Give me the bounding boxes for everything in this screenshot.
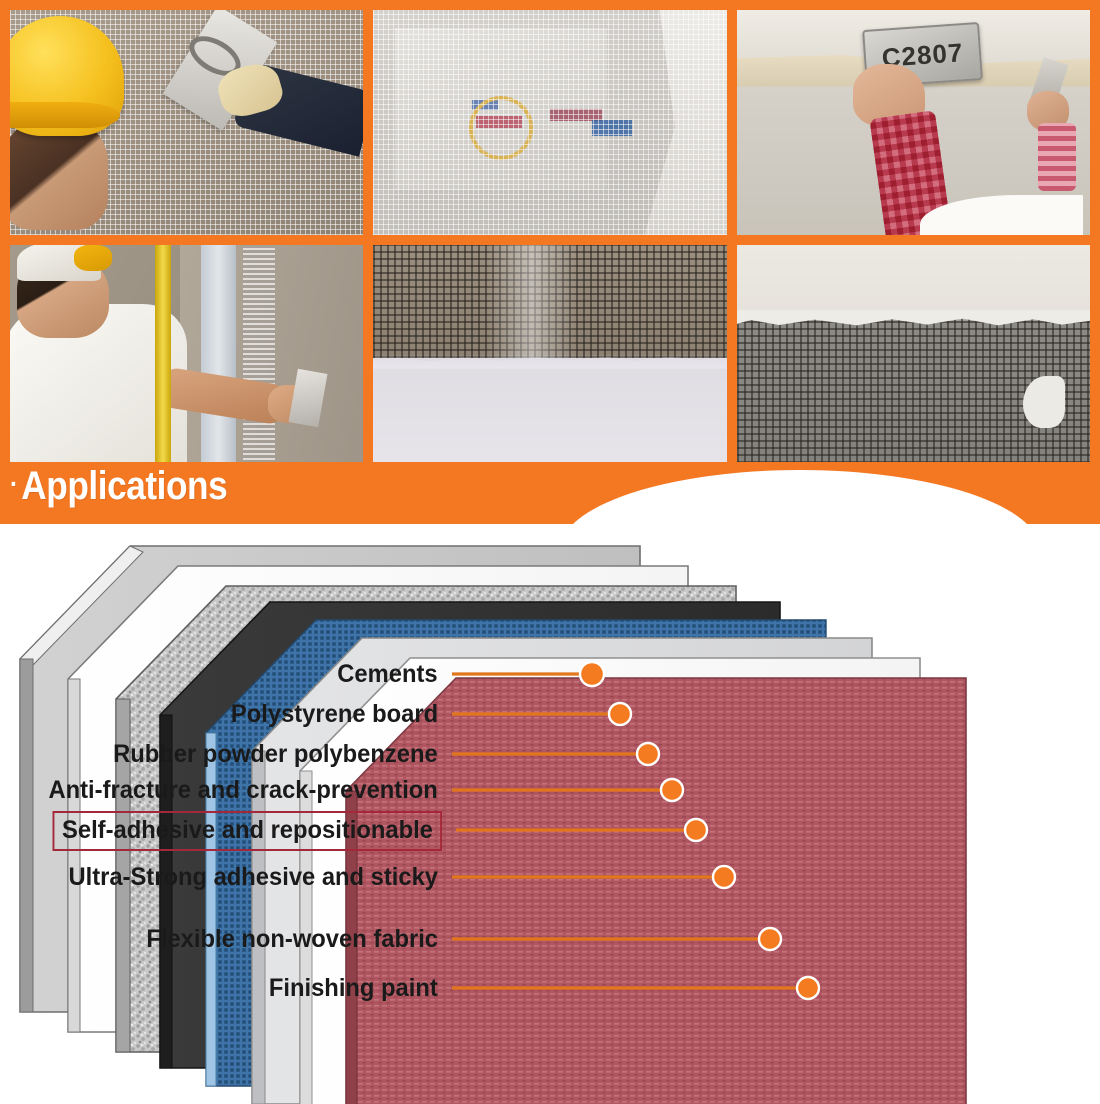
- photo4-yellow-pipe: [155, 245, 171, 470]
- layer-label-rubber-powder-polybenzene: Rubber powder polybenzene: [113, 740, 438, 769]
- layer-label-finishing-paint: Finishing paint: [269, 974, 438, 1003]
- photo4-yellow-hat-edge: [74, 245, 112, 271]
- layer-label-ultra-strong-adhesive: Ultra-Strong adhesive and sticky: [68, 863, 438, 892]
- photo3-second-sleeve: [1038, 123, 1076, 191]
- layer-label-self-adhesive-repositionable: Self-adhesive and repositionable: [52, 811, 442, 851]
- photo-wall-seam: [10, 245, 363, 470]
- photo-mesh-plaster-2: [737, 245, 1090, 470]
- photo5-highlight-sheen: [486, 245, 578, 358]
- applications-photo-gallery: C2807: [0, 0, 1100, 470]
- photo1-hard-hat-brim: [10, 102, 120, 128]
- photo-mesh-plaster-1: [373, 245, 726, 470]
- photo-row-top: C2807: [10, 10, 1090, 235]
- layer-8-finishing-paint: [346, 678, 966, 1104]
- photo4-mesh-tape: [243, 245, 275, 470]
- photo6-plaster-blob: [1023, 376, 1065, 428]
- photo2-mesh-texture: [373, 10, 726, 235]
- photo4-wall-seam: [201, 245, 236, 470]
- layer-label-cements: Cements: [338, 660, 438, 689]
- photo-c2807-plate: C2807: [737, 10, 1090, 235]
- layer-label-polystyrene-board: Polystyrene board: [231, 700, 438, 729]
- photo-mesh-over-wall: [373, 10, 726, 235]
- layer-label-anti-fracture-crack-prevention: Anti-fracture and crack-prevention: [49, 776, 438, 805]
- layer-label-flexible-non-woven-fabric: Flexible non-woven fabric: [146, 925, 438, 954]
- photo-row-bottom: [10, 245, 1090, 470]
- photo-trowel-worker: [10, 10, 363, 235]
